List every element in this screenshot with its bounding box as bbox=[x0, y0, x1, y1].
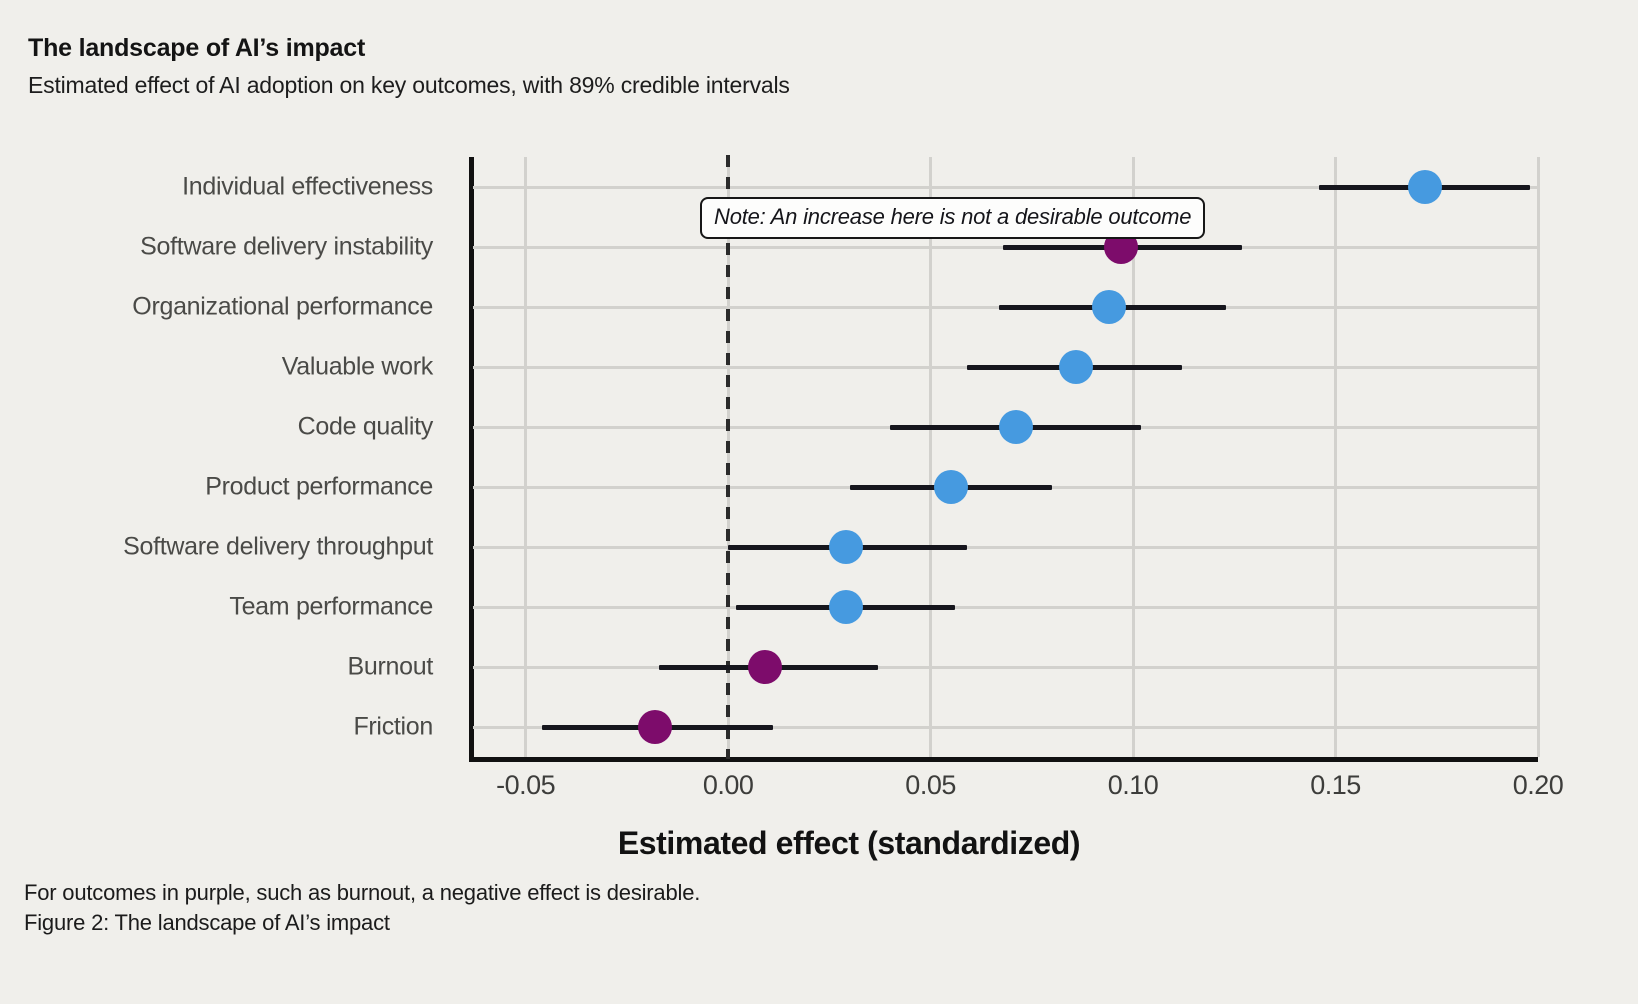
chart-figure: The landscape of AI’s impact Estimated e… bbox=[0, 0, 1638, 1004]
y-axis-tick-label: Team performance bbox=[229, 593, 433, 622]
chart-title: The landscape of AI’s impact bbox=[28, 34, 365, 63]
y-axis-tick-labels: Individual effectivenessSoftware deliver… bbox=[0, 157, 455, 757]
estimate-point[interactable] bbox=[638, 710, 672, 744]
estimate-point[interactable] bbox=[1092, 290, 1126, 324]
x-axis-spine bbox=[469, 757, 1538, 762]
annotation-callout: Note: An increase here is not a desirabl… bbox=[700, 197, 1205, 239]
x-axis-tick-labels: -0.050.000.050.100.150.20 bbox=[0, 770, 1638, 810]
estimate-point[interactable] bbox=[1408, 170, 1442, 204]
y-gridline bbox=[473, 606, 1538, 609]
footnote-purple-note: For outcomes in purple, such as burnout,… bbox=[24, 880, 700, 906]
y-axis-tick-label: Code quality bbox=[298, 413, 433, 442]
y-axis-tick-label: Burnout bbox=[348, 653, 433, 682]
x-axis-title-text: Estimated effect (standardized) bbox=[618, 825, 1080, 862]
x-axis-title: Estimated effect (standardized) bbox=[0, 825, 1638, 862]
estimate-point[interactable] bbox=[829, 530, 863, 564]
x-axis-tick-label: 0.20 bbox=[1513, 770, 1564, 801]
estimate-point[interactable] bbox=[829, 590, 863, 624]
y-axis-tick-label: Software delivery instability bbox=[140, 233, 433, 262]
y-gridline bbox=[473, 546, 1538, 549]
x-axis-tick-label: 0.05 bbox=[905, 770, 956, 801]
estimate-point[interactable] bbox=[748, 650, 782, 684]
estimate-point[interactable] bbox=[1059, 350, 1093, 384]
x-axis-tick-label: 0.15 bbox=[1310, 770, 1361, 801]
figure-caption: Figure 2: The landscape of AI’s impact bbox=[24, 910, 390, 936]
y-axis-tick-label: Friction bbox=[353, 713, 433, 742]
y-axis-tick-label: Individual effectiveness bbox=[182, 173, 433, 202]
estimate-point[interactable] bbox=[999, 410, 1033, 444]
x-axis-tick-label: 0.00 bbox=[703, 770, 754, 801]
estimate-point[interactable] bbox=[934, 470, 968, 504]
x-axis-tick-label: -0.05 bbox=[496, 770, 555, 801]
y-gridline bbox=[473, 666, 1538, 669]
y-axis-tick-label: Organizational performance bbox=[132, 293, 433, 322]
x-axis-tick-label: 0.10 bbox=[1108, 770, 1159, 801]
y-axis-tick-label: Software delivery throughput bbox=[123, 533, 433, 562]
plot-area bbox=[473, 157, 1538, 757]
y-axis-tick-label: Valuable work bbox=[282, 353, 433, 382]
chart-subtitle: Estimated effect of AI adoption on key o… bbox=[28, 72, 790, 99]
y-axis-tick-label: Product performance bbox=[205, 473, 433, 502]
